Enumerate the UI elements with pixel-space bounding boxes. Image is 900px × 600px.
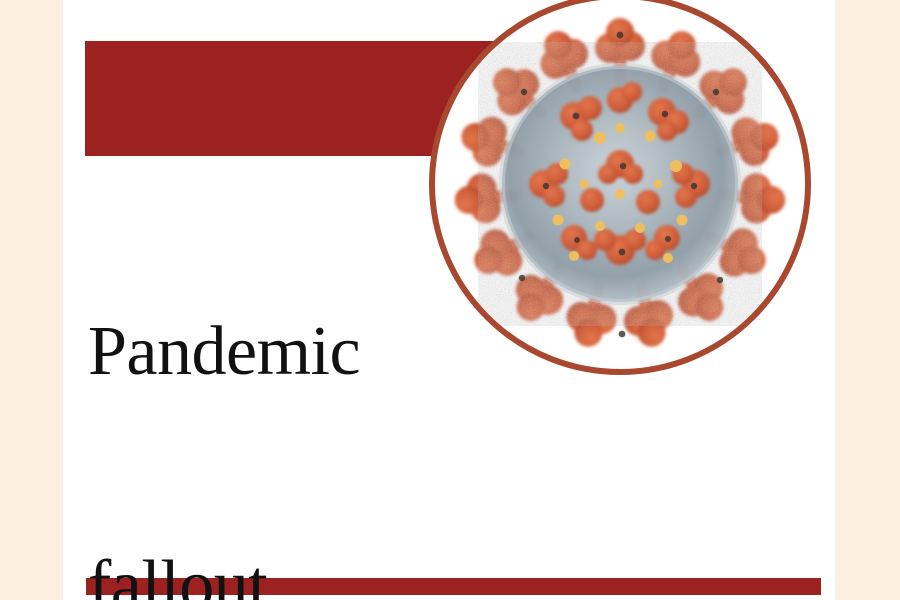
- headline-line-1: Pandemic: [88, 313, 818, 391]
- page-title: Pandemic fallout includes reverse migrat…: [88, 157, 818, 600]
- headline-line-2: fallout: [88, 547, 818, 600]
- newspaper-headline-graphic: Pandemic fallout includes reverse migrat…: [0, 0, 900, 600]
